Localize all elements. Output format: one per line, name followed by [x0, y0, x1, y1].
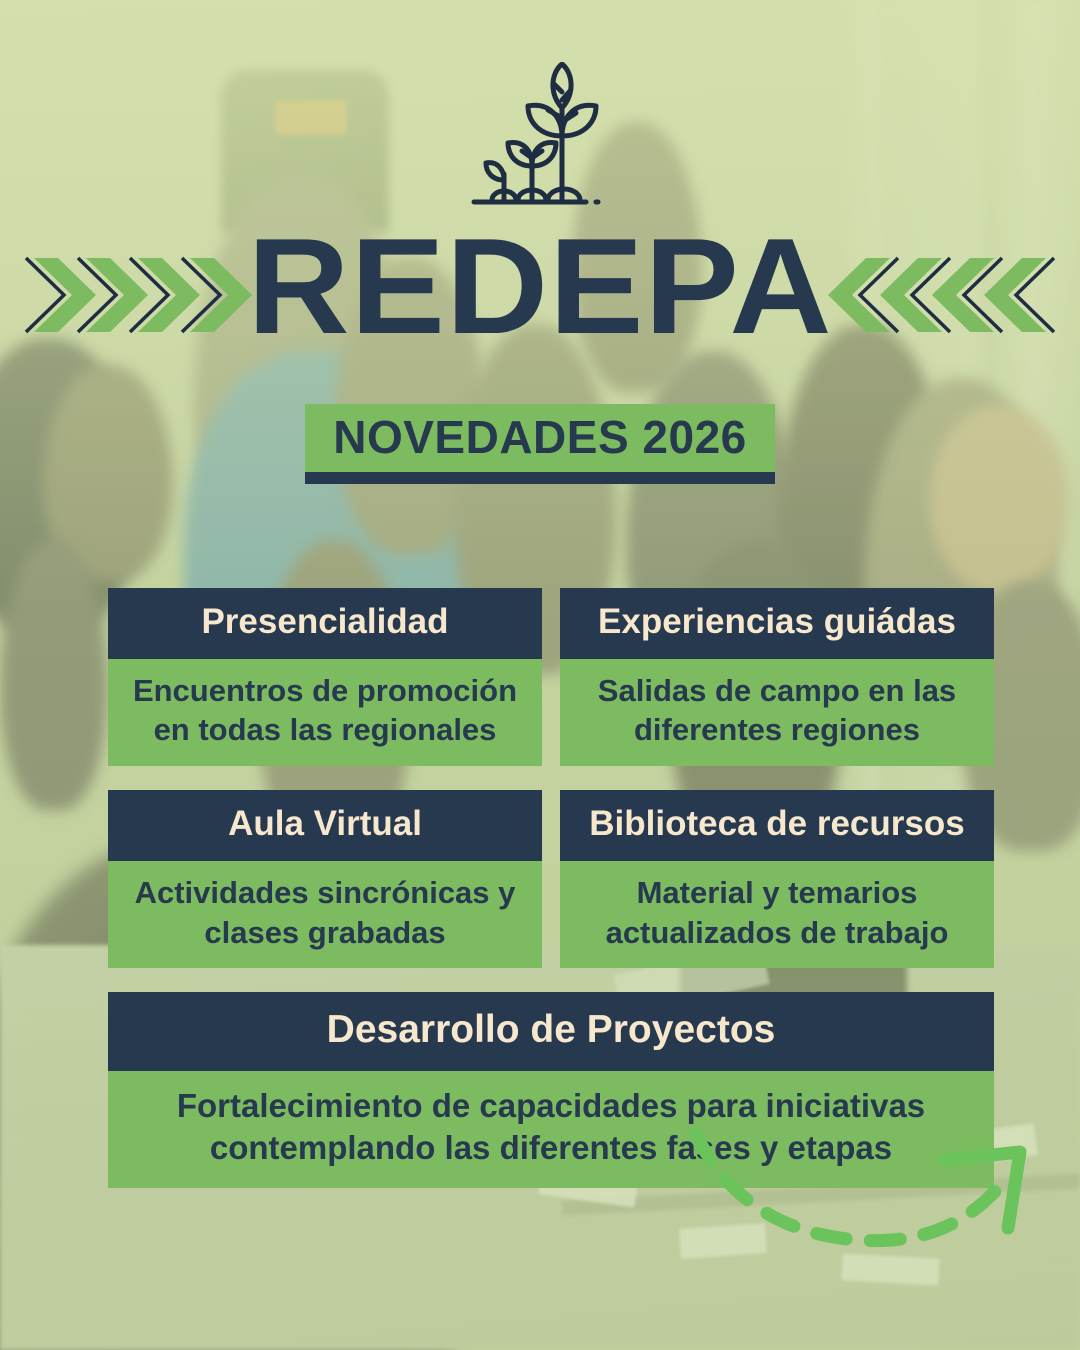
card-description: Actividades sincrónicas y clases grabada…	[108, 861, 542, 968]
card-title: Experiencias guiádas	[560, 588, 994, 659]
card-description: Salidas de campo en las diferentes regio…	[560, 659, 994, 766]
cards-row-2: Aula Virtual Actividades sincrónicas y c…	[108, 790, 994, 968]
poster-canvas: REDEPA NOVEDADES 2026 Presencialidad Enc…	[0, 0, 1080, 1350]
subtitle-banner: NOVEDADES 2026	[305, 404, 775, 484]
card-description: Material y temarios actualizados de trab…	[560, 861, 994, 968]
card-title: Aula Virtual	[108, 790, 542, 861]
dashed-curved-arrow-icon	[678, 1124, 1058, 1274]
card-experiencias-guiadas[interactable]: Experiencias guiádas Salidas de campo en…	[560, 588, 994, 766]
cards-row-1: Presencialidad Encuentros de promoción e…	[108, 588, 994, 766]
card-presencialidad[interactable]: Presencialidad Encuentros de promoción e…	[108, 588, 542, 766]
brand-title: REDEPA	[0, 218, 1080, 354]
card-aula-virtual[interactable]: Aula Virtual Actividades sincrónicas y c…	[108, 790, 542, 968]
feature-cards: Presencialidad Encuentros de promoción e…	[108, 588, 994, 1212]
seedling-plants-icon	[470, 62, 610, 214]
card-title: Biblioteca de recursos	[560, 790, 994, 861]
card-biblioteca-de-recursos[interactable]: Biblioteca de recursos Material y temari…	[560, 790, 994, 968]
subtitle-underline	[305, 472, 775, 484]
subtitle-text: NOVEDADES 2026	[305, 404, 775, 472]
card-description: Encuentros de promoción en todas las reg…	[108, 659, 542, 766]
card-title: Presencialidad	[108, 588, 542, 659]
card-title: Desarrollo de Proyectos	[108, 992, 994, 1071]
